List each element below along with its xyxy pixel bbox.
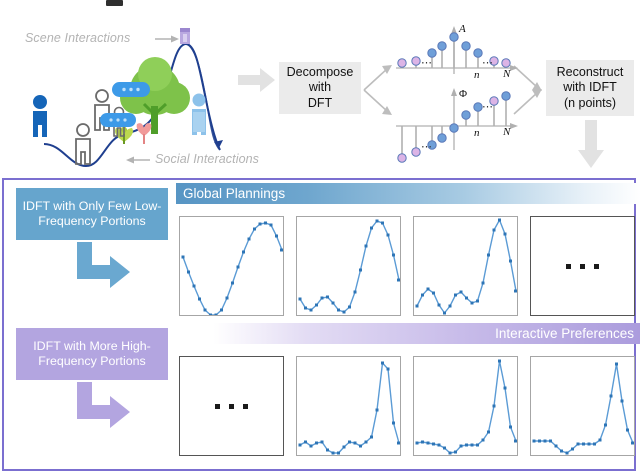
scene-object-icon — [180, 28, 190, 44]
arrow-reconstruct-down-icon — [578, 120, 604, 170]
social-label-arrow-icon — [124, 154, 150, 166]
clipped-title-glyph — [106, 0, 123, 6]
plot-tile-global-1 — [179, 216, 284, 316]
reconstruct-line-3: (n points) — [557, 96, 624, 112]
banner-global-plannings: Global Plannings — [176, 183, 640, 204]
plot-tile-global-ellipsis — [530, 216, 635, 316]
label-social-interactions: Social Interactions — [155, 152, 259, 166]
ellipsis-dot — [229, 404, 234, 409]
chip-high-line-1: IDFT with More — [33, 339, 117, 353]
ellipsis-dot — [243, 404, 248, 409]
decompose-box: Decompose with DFT — [279, 62, 361, 114]
ellipsis-global — [531, 217, 634, 315]
ellipsis-dot — [215, 404, 220, 409]
chip-high-frequency: IDFT with More High-Frequency Portions — [16, 328, 168, 380]
chip-low-line-3: Portions — [100, 214, 145, 228]
scene-label-arrow-icon — [155, 33, 181, 45]
decompose-line-1: Decompose — [287, 65, 354, 81]
ellipsis-dot — [566, 264, 571, 269]
svg-text:⋯: ⋯ — [421, 57, 432, 69]
chat-bubble-icon-1 — [112, 82, 150, 97]
phase-tick-n: n — [474, 127, 480, 139]
plot-tile-global-2 — [296, 216, 401, 316]
reconstruct-line-1: Reconstruct — [557, 65, 624, 81]
plot-interactive-3 — [531, 357, 634, 455]
label-scene-interactions: Scene Interactions — [25, 31, 130, 45]
chip-low-line-1: IDFT with Only Few — [23, 199, 132, 213]
phase-tick-N: N — [503, 126, 510, 138]
split-arrows-icon — [362, 52, 394, 128]
phase-axis-label: Φ — [459, 88, 467, 100]
ellipsis-interactive — [180, 357, 283, 455]
amplitude-axis-label: A — [459, 23, 466, 35]
svg-text:⋯: ⋯ — [482, 101, 493, 113]
plot-tile-global-3 — [413, 216, 518, 316]
decompose-line-2: with — [287, 80, 354, 96]
person-icon-outline-1 — [76, 124, 90, 164]
arrow-scene-to-decompose-icon — [238, 68, 276, 92]
reconstruct-line-2: with IDFT — [557, 80, 624, 96]
person-icon-primary — [33, 95, 47, 137]
plot-global-1 — [180, 217, 283, 315]
plot-interactive-1 — [297, 357, 400, 455]
plot-global-2 — [297, 217, 400, 315]
banner-interactive-label: Interactive Preferences — [495, 326, 634, 341]
branch-panel: IDFT with Only Few Low-Frequency Portion… — [2, 178, 636, 471]
plot-tile-interactive-2 — [413, 356, 518, 456]
plot-tile-interactive-1 — [296, 356, 401, 456]
ellipsis-dot — [580, 264, 585, 269]
plot-global-3 — [414, 217, 517, 315]
reconstruct-box: Reconstruct with IDFT (n points) — [546, 60, 634, 116]
plot-tile-interactive-3 — [530, 356, 635, 456]
ellipsis-dot — [594, 264, 599, 269]
svg-text:⋯: ⋯ — [421, 141, 432, 153]
curved-arrow-low-icon — [69, 242, 135, 290]
decompose-line-3: DFT — [287, 96, 354, 112]
plot-interactive-2 — [414, 357, 517, 455]
amplitude-stem-plot: ⋯ ⋯ — [396, 22, 518, 82]
chat-bubble-icon-2 — [100, 113, 136, 127]
amplitude-tick-n: n — [474, 69, 480, 81]
chip-low-frequency: IDFT with Only Few Low-Frequency Portion… — [16, 188, 168, 240]
person-icon-secondary — [192, 94, 206, 136]
chip-high-line-3: Portions — [100, 354, 145, 368]
svg-text:⋯: ⋯ — [482, 57, 493, 69]
banner-global-label: Global Plannings — [183, 186, 285, 201]
banner-interactive-preferences: Interactive Preferences — [176, 323, 640, 344]
amplitude-tick-N: N — [503, 68, 510, 80]
scene-illustration-block: Scene Interactions Social Interactions D… — [0, 0, 640, 176]
curved-arrow-high-icon — [69, 382, 135, 430]
phase-stem-plot: ⋯ ⋯ — [396, 88, 518, 164]
plot-tile-interactive-ellipsis — [179, 356, 284, 456]
